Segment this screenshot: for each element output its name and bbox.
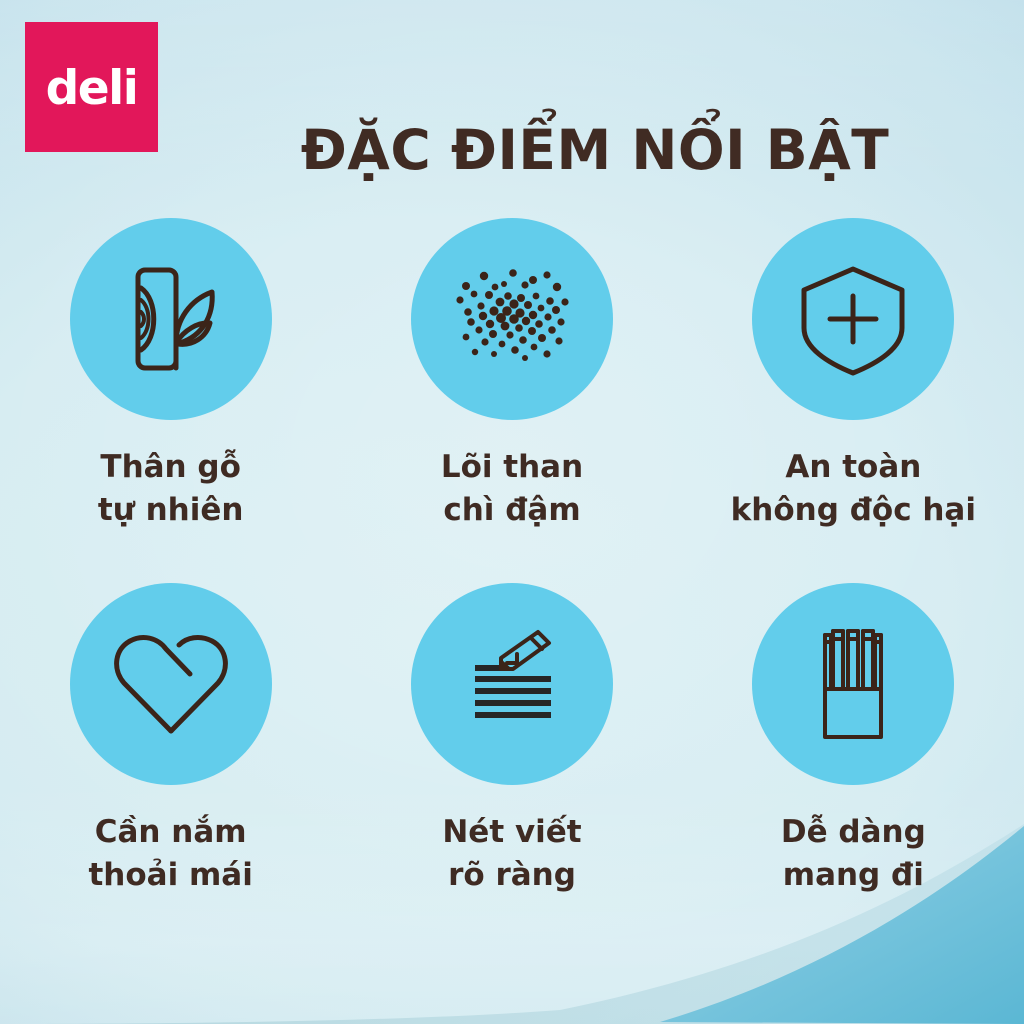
feature-label: An toàn không độc hại bbox=[731, 446, 976, 532]
header: deli ĐẶC ĐIỂM NỔI BẬT bbox=[0, 0, 1024, 178]
page-title: ĐẶC ĐIỂM NỔI BẬT bbox=[190, 123, 1000, 178]
shield-plus-icon bbox=[778, 244, 928, 394]
feature-icon-circle bbox=[411, 218, 613, 420]
pencils-in-box-icon bbox=[778, 609, 928, 759]
feature-icon-circle bbox=[752, 583, 954, 785]
feature-label: Dễ dàng mang đi bbox=[781, 811, 926, 897]
feature-label: Nét viết rõ ràng bbox=[442, 811, 581, 897]
feature-item-clear-writing: Nét viết rõ ràng bbox=[341, 583, 682, 948]
brand-logo-text: deli bbox=[46, 65, 138, 112]
feature-grid: Thân gỗ tự nhiên bbox=[0, 218, 1024, 948]
feature-item-non-toxic: An toàn không độc hại bbox=[683, 218, 1024, 583]
feature-item-comfortable-grip: Cần nắm thoải mái bbox=[0, 583, 341, 948]
feature-icon-circle bbox=[70, 583, 272, 785]
feature-label: Cần nắm thoải mái bbox=[88, 811, 252, 897]
feature-icon-circle bbox=[752, 218, 954, 420]
wood-leaf-icon bbox=[96, 244, 246, 394]
feature-item-natural-wood: Thân gỗ tự nhiên bbox=[0, 218, 341, 583]
pencil-writing-icon bbox=[437, 609, 587, 759]
promo-banner: deli ĐẶC ĐIỂM NỔI BẬT Thân gỗ tự nhiên bbox=[0, 0, 1024, 1024]
graphite-particles-icon bbox=[437, 244, 587, 394]
feature-item-easy-to-carry: Dễ dàng mang đi bbox=[683, 583, 1024, 948]
brand-logo: deli bbox=[25, 22, 158, 152]
feature-label: Thân gỗ tự nhiên bbox=[98, 446, 244, 532]
feature-icon-circle bbox=[411, 583, 613, 785]
heart-icon bbox=[96, 609, 246, 759]
feature-label: Lõi than chì đậm bbox=[441, 446, 583, 532]
feature-icon-circle bbox=[70, 218, 272, 420]
feature-item-graphite-core: Lõi than chì đậm bbox=[341, 218, 682, 583]
